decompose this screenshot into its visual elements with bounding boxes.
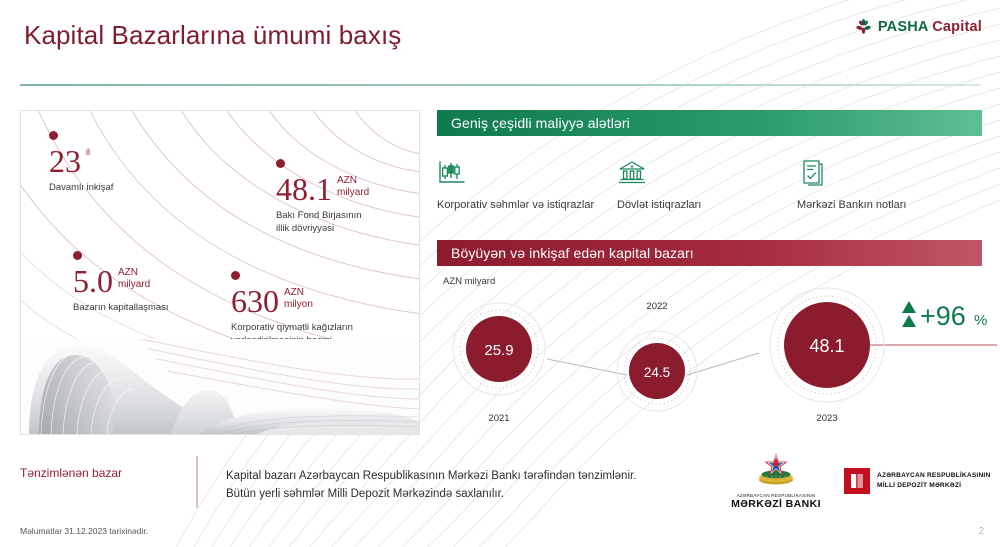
slide-canvas: Kapital Bazarlarına ümumi baxış PASHA Ca… <box>0 0 1000 547</box>
note-divider <box>196 456 198 508</box>
stat-unit: AZNmilyard <box>118 265 150 290</box>
candlestick-chart-icon <box>437 154 601 188</box>
stat-value: 630 <box>231 285 279 317</box>
chart-unit-note: AZN milyard <box>443 276 982 287</box>
page-number: 2 <box>978 526 984 537</box>
stat-dot-icon <box>49 131 58 140</box>
regulatory-note-line-2: Bütün yerli səhmlər Milli Depozit Mərkəz… <box>226 486 726 504</box>
stat-value: 5.0 <box>73 265 113 297</box>
key-figures-panel: 23 il Davamlı inkişaf 48.1 AZNmilyard Ba… <box>20 110 420 435</box>
national-depository-center-logo: AZƏRBAYCAN RESPUBLİKASININ MİLLİ DEPOZİT… <box>844 468 990 494</box>
heydar-aliyev-center-building-image <box>21 339 420 434</box>
document-check-icon <box>797 154 961 188</box>
depository-line-1: AZƏRBAYCAN RESPUBLİKASININ <box>877 471 990 481</box>
central-bank-of-azerbaijan-logo: AZƏRBAYCAN RESPUBLİKASININ MƏRKƏZİ BANKI <box>730 452 822 510</box>
stat-caption: Davamlı inkişaf <box>49 182 113 195</box>
partner-logos: AZƏRBAYCAN RESPUBLİKASININ MƏRKƏZİ BANKI… <box>730 452 990 510</box>
page-title: Kapital Bazarlarına ümumi baxış <box>24 20 401 51</box>
right-column: Geniş çeşidli maliyyə alətləri Korporati… <box>437 110 982 214</box>
stat-caption: Bazarın kapitallaşması <box>73 302 169 315</box>
bank-building-icon <box>617 154 781 188</box>
triangle-up-icon <box>902 301 916 313</box>
stat-dot-icon <box>73 251 82 260</box>
stat-value: 48.1 <box>276 173 332 205</box>
instrument-item: Korporativ səhmlər və istiqrazlar <box>437 154 617 214</box>
bubble-label-2021: 2021 <box>488 413 509 424</box>
stat-48-1: 48.1 AZNmilyard Bakı Fond Birjasınınilli… <box>276 159 369 236</box>
stat-dot-icon <box>276 159 285 168</box>
instrument-item: Mərkəzi Bankın notları <box>797 154 977 214</box>
depository-line-2: MİLLİ DEPOZİT MƏRKƏZİ <box>877 481 990 491</box>
bubble-label-2023: 2023 <box>816 413 837 424</box>
central-bank-title: MƏRKƏZİ BANKI <box>730 498 822 510</box>
delta-value: +96 <box>920 301 966 331</box>
stat-caption: Bakı Fond Birjasınınillik dövriyyəsi <box>276 210 369 236</box>
brand-text: PASHA Capital <box>878 19 982 35</box>
stat-unit: AZNmilyon <box>284 285 313 310</box>
stat-unit: AZNmilyard <box>337 173 369 198</box>
growth-bubble-chart: 25.9 2021 24.5 2022 48.1 2023 <box>437 287 997 432</box>
pasha-pinwheel-icon <box>855 18 872 35</box>
central-bank-emblem-icon <box>753 452 799 486</box>
brand-secondary: Capital <box>932 19 982 35</box>
bubble-label-2022: 2022 <box>646 301 667 312</box>
growth-band-title: Böyüyən və inkişaf edən kapital bazarı <box>437 240 982 266</box>
depository-text: AZƏRBAYCAN RESPUBLİKASININ MİLLİ DEPOZİT… <box>877 471 990 491</box>
title-divider <box>20 84 980 86</box>
instrument-label: Korporativ səhmlər və istiqrazlar <box>437 198 601 214</box>
brand-logo: PASHA Capital <box>855 18 982 35</box>
stat-unit: il <box>86 145 90 157</box>
data-as-of-footnote: Məlumatlar 31.12.2023 tarixinədir. <box>20 526 148 536</box>
instrument-label: Dövlət istiqrazları <box>617 198 781 214</box>
instrument-item: Dövlət istiqrazları <box>617 154 797 214</box>
stat-value: 23 <box>49 145 81 177</box>
instrument-label: Mərkəzi Bankın notları <box>797 198 961 214</box>
growth-delta: +96 % <box>902 301 987 331</box>
delta-suffix: % <box>974 312 987 329</box>
depository-mark-icon <box>844 468 870 494</box>
instruments-band-title: Geniş çeşidli maliyyə alətləri <box>437 110 982 136</box>
bubble-value-2022: 24.5 <box>644 365 670 380</box>
stat-23: 23 il Davamlı inkişaf <box>49 131 113 195</box>
bubble-2023: 48.1 <box>770 288 884 402</box>
regulatory-note-line-1: Kapital bazarı Azərbaycan Respublikasını… <box>226 468 726 486</box>
stat-630: 630 AZNmilyon Korporativ qiymətli kağızl… <box>231 271 353 348</box>
bubble-2021: 25.9 <box>453 303 545 395</box>
bubble-value-2021: 25.9 <box>484 342 513 359</box>
stat-5-0: 5.0 AZNmilyard Bazarın kapitallaşması <box>73 251 169 315</box>
regulatory-note: Kapital bazarı Azərbaycan Respublikasını… <box>226 468 726 504</box>
triangle-up-icon <box>902 315 916 327</box>
bubble-2022: 24.5 <box>617 331 697 411</box>
stat-dot-icon <box>231 271 240 280</box>
bubble-value-2023: 48.1 <box>809 336 844 356</box>
regulated-market-label: Tənzimlənən bazar <box>20 466 122 480</box>
brand-primary: PASHA <box>878 19 928 35</box>
instruments-list: Korporativ səhmlər və istiqrazlar Dövlət… <box>437 154 982 214</box>
